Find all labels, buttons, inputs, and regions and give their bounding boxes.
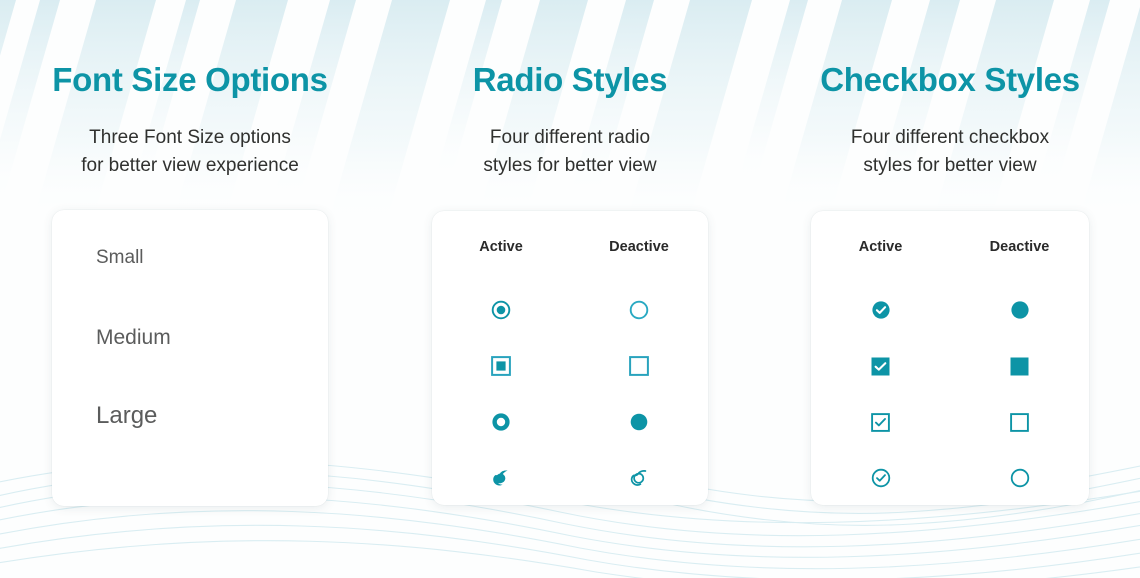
font-size-option-large[interactable]: Large bbox=[96, 404, 328, 428]
radio-circle-solid-icon[interactable] bbox=[629, 394, 649, 450]
column-radio-styles: Radio Styles Four different radio styles… bbox=[380, 62, 760, 578]
checkbox-styles-grid: Active Deactive bbox=[811, 239, 1089, 506]
radio-square-filled-icon[interactable] bbox=[491, 338, 511, 394]
check-circle-filled-icon[interactable] bbox=[871, 282, 891, 338]
square-outline-icon[interactable] bbox=[1010, 394, 1029, 450]
checkbox-styles-card: Active Deactive bbox=[811, 211, 1089, 505]
check-square-outline-icon[interactable] bbox=[871, 394, 890, 450]
font-size-option-medium[interactable]: Medium bbox=[96, 327, 328, 348]
page-title-checkbox-styles: Checkbox Styles bbox=[820, 62, 1080, 98]
checkbox-column-header-deactive: Deactive bbox=[990, 239, 1050, 282]
font-size-option-small[interactable]: Small bbox=[96, 248, 328, 267]
columns-container: Font Size Options Three Font Size option… bbox=[0, 0, 1140, 578]
radio-ring-empty-icon[interactable] bbox=[628, 282, 650, 338]
column-font-size: Font Size Options Three Font Size option… bbox=[0, 62, 380, 578]
radio-styles-grid: Active Deactive bbox=[432, 239, 708, 506]
checkbox-column-header-active: Active bbox=[859, 239, 903, 282]
check-square-filled-icon[interactable] bbox=[871, 338, 890, 394]
circle-outline-icon[interactable] bbox=[1010, 450, 1030, 506]
radio-column-header-active: Active bbox=[479, 239, 523, 282]
radio-spiral-outline-icon[interactable] bbox=[627, 450, 651, 506]
column-checkbox-styles: Checkbox Styles Four different checkbox … bbox=[760, 62, 1140, 578]
font-size-card: Small Medium Large bbox=[52, 210, 328, 506]
check-circle-outline-icon[interactable] bbox=[871, 450, 891, 506]
radio-square-outline-icon[interactable] bbox=[629, 338, 649, 394]
subtitle-checkbox-styles: Four different checkbox styles for bette… bbox=[851, 124, 1049, 179]
radio-ring-dot-icon[interactable] bbox=[490, 282, 512, 338]
radio-donut-icon[interactable] bbox=[491, 394, 511, 450]
radio-column-header-deactive: Deactive bbox=[609, 239, 669, 282]
page-title-font-size: Font Size Options bbox=[52, 62, 327, 98]
subtitle-radio-styles: Four different radio styles for better v… bbox=[483, 124, 656, 179]
circle-solid-icon[interactable] bbox=[1010, 282, 1030, 338]
subtitle-font-size: Three Font Size options for better view … bbox=[81, 124, 299, 179]
radio-spiral-filled-icon[interactable] bbox=[489, 450, 513, 506]
page-title-radio-styles: Radio Styles bbox=[473, 62, 667, 98]
square-solid-icon[interactable] bbox=[1010, 338, 1029, 394]
radio-styles-card: Active Deactive bbox=[432, 211, 708, 505]
